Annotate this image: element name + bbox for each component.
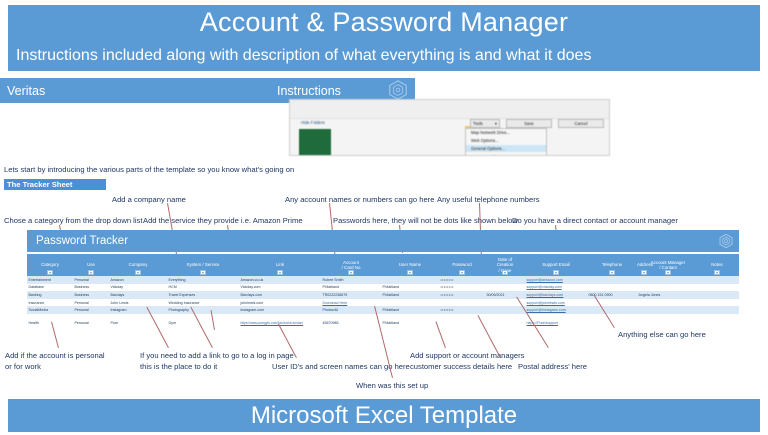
hexagon-deco-icon <box>718 233 734 249</box>
table-row[interactable]: Entertainment Personal Amazon Everything… <box>27 276 739 284</box>
table-header-row-right: Address Notes <box>27 254 739 276</box>
cell-use: Business <box>73 284 109 292</box>
cell-use: Personal <box>73 299 109 307</box>
cell-telephone <box>587 284 637 292</box>
tab-instructions[interactable]: Instructions <box>277 84 341 98</box>
table-row[interactable]: Health Personal Pure Gym https://www.pur… <box>27 319 739 327</box>
annotation-service: Add the service they provide i.e. Amazon… <box>143 216 303 225</box>
annotation-personal-or-work-line2: or for work <box>5 362 41 371</box>
cell-date <box>485 306 525 314</box>
cell-username: P.Maitland <box>381 284 439 292</box>
cell-account-manager: Angela Jones <box>637 291 699 299</box>
cell-category: Health <box>27 319 73 327</box>
menu-item-general-options[interactable]: General Options... <box>466 145 546 153</box>
password-tracker-title-text: Password Tracker <box>36 235 128 247</box>
annotation-passwords: Passwords here, they will not be dots li… <box>333 216 518 225</box>
annotation-support-line2: customer success details here <box>410 362 512 371</box>
password-tracker-title: Password Tracker <box>27 230 739 252</box>
cell-system: Everything <box>167 276 239 284</box>
cell-date <box>485 276 525 284</box>
cell-link: Amazon.co.uk <box>239 276 321 284</box>
cell-telephone <box>587 276 637 284</box>
cell-account-manager <box>637 299 699 307</box>
dialog-button-bar: Tools ▾ Save Cancel <box>470 119 604 128</box>
cell-account: 45670985 <box>321 319 381 327</box>
cell-support-email[interactable]: support@instagram.com <box>525 306 587 314</box>
annotation-account-manager: Do you have a direct contact or account … <box>512 216 678 225</box>
footer-title: Microsoft Excel Template <box>8 399 760 432</box>
annotation-support-line1: Add support or account managers <box>410 351 524 360</box>
cell-link: Vickday.com <box>239 284 321 292</box>
cell-account-manager <box>637 276 699 284</box>
cell-system: Travel Expenses <box>167 291 239 299</box>
cell-link: johnlewis.com <box>239 299 321 307</box>
preview-thumbnail <box>299 129 331 156</box>
cell-support-email[interactable]: support@barclays.com <box>525 291 587 299</box>
cell-account-manager <box>637 306 699 314</box>
filter-dropdown-address[interactable] <box>641 270 647 275</box>
tools-label: Tools <box>473 121 483 126</box>
cell-system: Photography <box>167 306 239 314</box>
cell-account: Photos4U <box>321 306 381 314</box>
cell-system: Wedding Insurance <box>167 299 239 307</box>
table-body: Entertainment Personal Amazon Everything… <box>27 276 739 327</box>
annotation-date-created: When was this set up <box>356 381 428 390</box>
hide-folders-label[interactable]: Hide Folders <box>301 120 325 125</box>
cell-category: Banking <box>27 291 73 299</box>
cell-support-email[interactable]: support@amazon.com <box>525 276 587 284</box>
cell-telephone <box>587 299 637 307</box>
tools-dropdown-menu: Map Network Drive... Web Options... Gene… <box>465 128 547 156</box>
cell-support-email[interactable]: support@vickday.com <box>525 284 587 292</box>
cell-account[interactable]: Download Here <box>321 299 381 307</box>
menu-item-compress-pictures[interactable]: Compress Pictures... <box>466 152 546 156</box>
cell-username: P.Maitland <box>381 291 439 299</box>
cell-use: Personal <box>73 306 109 314</box>
cell-category: Insurance <box>27 299 73 307</box>
cell-system: Gym <box>167 319 239 327</box>
tools-dropdown-button[interactable]: Tools ▾ <box>470 119 500 128</box>
cell-use: Personal <box>73 276 109 284</box>
cell-category: Database <box>27 284 73 292</box>
page-subtitle: Instructions included along with descrip… <box>8 40 760 71</box>
cell-company: Barclays <box>109 291 167 299</box>
intro-line: Lets start by introducing the various pa… <box>4 165 294 174</box>
cell-date: 30/09/2021 <box>485 291 525 299</box>
cell-password <box>439 319 485 327</box>
cell-account-manager <box>637 284 699 292</box>
filter-dropdown-notes[interactable] <box>714 270 720 275</box>
menu-item-web-options[interactable]: Web Options... <box>466 137 546 145</box>
annotation-company-name: Add a company name <box>112 195 186 204</box>
table-row[interactable]: SocialMedia Personal Instagram Photograp… <box>27 306 739 314</box>
cell-account: Robert Smith <box>321 276 381 284</box>
save-dialog-screenshot: Hide Folders Gift Tracker Documents — Mi… <box>289 99 610 156</box>
tracker-sheet-label: The Tracker Sheet <box>4 179 106 190</box>
cell-company: Instagram <box>109 306 167 314</box>
cell-telephone <box>587 306 637 314</box>
annotation-account-numbers: Any account names or numbers can go here <box>285 195 434 204</box>
cell-date <box>485 319 525 327</box>
cell-username <box>381 299 439 307</box>
cell-link: Barclays.com <box>239 291 321 299</box>
annotation-link-line1: If you need to add a link to go to a log… <box>140 351 294 360</box>
annotation-category: Chose a category from the drop down list <box>4 216 142 225</box>
cell-password: •••••••• <box>439 284 485 292</box>
cell-password: •••••••• <box>439 306 485 314</box>
cell-use: Business <box>73 291 109 299</box>
cell-category: Entertainment <box>27 276 73 284</box>
cell-username: P.Maitland <box>381 319 439 327</box>
cell-date <box>485 284 525 292</box>
cell-account: TR0222236679 <box>321 291 381 299</box>
column-header-address: Address <box>595 254 695 276</box>
cell-company: Vickday <box>109 284 167 292</box>
cell-account: P.Maitland <box>321 284 381 292</box>
dialog-top-strip <box>290 100 609 119</box>
page-title: Account & Password Manager <box>8 5 760 40</box>
cell-support-email[interactable]: support@johnlewis.com <box>525 299 587 307</box>
save-button[interactable]: Save <box>506 119 552 128</box>
table-row[interactable]: Database Business Vickday HCM Vickday.co… <box>27 284 739 292</box>
annotation-notes: Anything else can go here <box>618 330 706 339</box>
cell-company: Pure <box>109 319 167 327</box>
chevron-down-icon: ▾ <box>495 121 497 126</box>
cell-category: SocialMedia <box>27 306 73 314</box>
annotation-postal-address: Postal address' here <box>518 362 587 371</box>
cell-company: Amazon <box>109 276 167 284</box>
cell-use: Personal <box>73 319 109 327</box>
cell-username: P.Maitland <box>381 306 439 314</box>
cell-system: HCM <box>167 284 239 292</box>
table-row[interactable]: Insurance Personal John Lewis Wedding In… <box>27 299 739 307</box>
table-row[interactable]: Banking Business Barclays Travel Expense… <box>27 291 739 299</box>
cell-company: John Lewis <box>109 299 167 307</box>
cell-account-manager <box>637 319 699 327</box>
annotation-link-line2: this is the place to do it <box>140 362 217 371</box>
menu-item-map-network-drive[interactable]: Map Network Drive... <box>466 129 546 137</box>
cell-password: •••••••• <box>439 276 485 284</box>
cell-link: instagram.com <box>239 306 321 314</box>
column-header-notes: Notes <box>695 254 739 276</box>
annotation-telephone: Any useful telephone numbers <box>437 195 540 204</box>
cell-password: •••••••• <box>439 291 485 299</box>
cell-username <box>381 276 439 284</box>
cancel-button[interactable]: Cancel <box>558 119 604 128</box>
cell-password <box>439 299 485 307</box>
password-tracker-panel: Password Tracker Category Use Company Sy… <box>27 230 739 322</box>
hexagon-deco-icon <box>387 79 409 101</box>
tab-veritas[interactable]: Veritas <box>0 84 45 98</box>
annotation-personal-or-work-line1: Add if the account is personal <box>5 351 105 360</box>
